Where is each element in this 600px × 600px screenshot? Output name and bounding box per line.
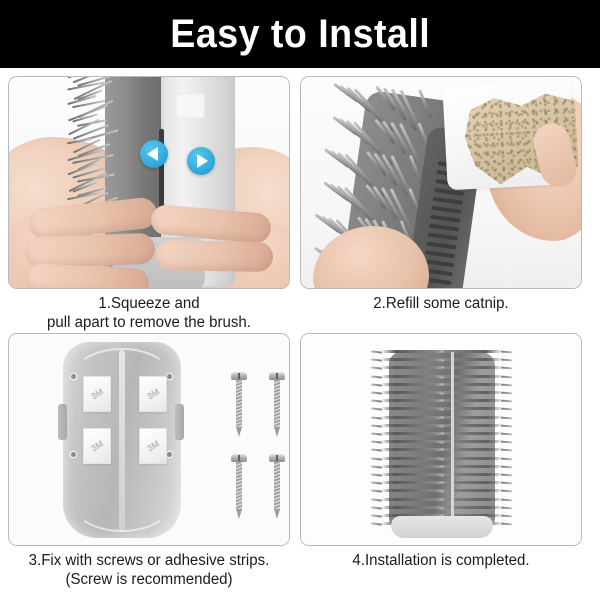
bristle-tip <box>371 490 382 493</box>
screw-hole <box>71 374 76 379</box>
bristle-tip <box>433 481 444 485</box>
bristle-tip <box>433 367 444 371</box>
screw-shaft <box>274 462 280 510</box>
screw-head <box>269 372 285 380</box>
bristle-tip <box>371 498 382 501</box>
step-2-caption: 2.Refill some catnip. <box>304 295 578 314</box>
bristle-tip <box>433 440 444 444</box>
bristle-tip <box>433 416 444 420</box>
screw <box>269 454 285 520</box>
screw-head <box>231 372 247 380</box>
scene-assembled-product <box>301 334 581 545</box>
step-1-photo <box>8 76 290 289</box>
bristle-tip <box>371 432 382 435</box>
adhesive-brand-label: 3M <box>89 438 105 453</box>
screw <box>269 372 285 438</box>
bristle <box>418 89 432 118</box>
bristle-tip <box>433 449 444 453</box>
screw-tip <box>274 427 280 437</box>
step-4-photo <box>300 333 582 546</box>
adhesive-strip: 3M <box>139 376 167 412</box>
bristle-tip <box>433 490 444 494</box>
scene-mounting-hardware: 3M 3M 3M 3M <box>9 334 289 545</box>
bristle-tip <box>501 498 512 501</box>
screw-tip <box>274 509 280 519</box>
vent-slot <box>429 224 459 232</box>
bristle-tip <box>501 523 512 526</box>
step-2-photo <box>300 76 582 289</box>
bristle-tip <box>501 506 512 509</box>
arrow-left-icon <box>140 140 168 168</box>
bristle-tip <box>501 375 512 378</box>
bristle-tip <box>501 441 512 444</box>
screw <box>231 372 247 438</box>
screw <box>231 454 247 520</box>
scene-refill-catnip <box>301 77 581 288</box>
screw-hole <box>167 374 172 379</box>
step-2: 2.Refill some catnip. <box>300 76 590 314</box>
bracket-left-tab <box>58 404 67 440</box>
vent-slot <box>425 250 455 258</box>
adhesive-strip: 3M <box>83 428 111 464</box>
bristle-tip <box>501 490 512 493</box>
bristle-tip <box>501 400 512 403</box>
bracket-bottom-arc <box>73 476 171 532</box>
bristle-tip <box>371 441 382 444</box>
bristle-tip <box>501 449 512 452</box>
bristle-tip <box>371 367 382 370</box>
step-3-caption-line-2: (Screw is recommended) <box>12 571 286 590</box>
bristle-tip <box>501 474 512 477</box>
bristle-tip <box>371 359 382 362</box>
screw-head <box>231 454 247 462</box>
vent-slot <box>426 241 456 249</box>
adhesive-brand-label: 3M <box>89 386 105 401</box>
left-little-finger <box>30 288 143 289</box>
bristle-tip <box>371 473 382 476</box>
vent-slot <box>424 259 454 267</box>
bristle-tip <box>371 400 382 403</box>
bristle-tip <box>501 465 512 468</box>
bristle-tip <box>501 408 512 411</box>
vent-slot <box>428 232 458 240</box>
step-1-caption-line-1: 1.Squeeze and <box>12 295 286 314</box>
bristle-tip <box>433 358 444 362</box>
bristle-tip <box>371 408 382 411</box>
step-4-caption: 4.Installation is completed. <box>304 552 578 571</box>
bristle-tip <box>501 359 512 362</box>
screw-tip <box>236 509 242 519</box>
header-banner: Easy to Install <box>0 0 600 68</box>
bristle-tip <box>371 383 382 386</box>
step-4: 4.Installation is completed. <box>300 333 590 571</box>
bristle-tip <box>371 424 382 427</box>
bristle-tip <box>433 408 444 412</box>
bristle-tip <box>433 350 444 354</box>
bristle-tip <box>433 457 444 461</box>
bristle-tip <box>371 375 382 378</box>
screw-shaft <box>236 462 242 510</box>
adhesive-brand-label: 3M <box>145 438 161 453</box>
step-1-caption: 1.Squeeze and pull apart to remove the b… <box>12 295 286 333</box>
step-3-photo: 3M 3M 3M 3M <box>8 333 290 546</box>
bristle-tip <box>501 482 512 485</box>
adhesive-strip: 3M <box>139 428 167 464</box>
screw-hole <box>167 452 172 457</box>
bristle-tip <box>433 498 444 502</box>
bristle-tip <box>433 424 444 428</box>
bristle-tip <box>433 506 444 510</box>
screw-tip <box>236 427 242 437</box>
bristle-tip <box>371 449 382 452</box>
shell-label-slot <box>175 93 205 119</box>
step-1: 1.Squeeze and pull apart to remove the b… <box>8 76 298 333</box>
bristle-tip <box>371 514 382 517</box>
product-instruction-graphic: Easy to Install <box>0 0 600 600</box>
steps-grid: 1.Squeeze and pull apart to remove the b… <box>0 68 600 600</box>
scene-squeeze-brush <box>9 77 289 288</box>
step-1-caption-line-2: pull apart to remove the brush. <box>12 314 286 333</box>
vent-slot <box>430 215 460 223</box>
arrow-left-glyph <box>147 147 158 161</box>
bristle-tip <box>371 457 382 460</box>
bristle-tip <box>501 457 512 460</box>
step-2-caption-line-1: 2.Refill some catnip. <box>304 295 578 314</box>
bristle-tip <box>433 465 444 469</box>
bristle-tip <box>501 367 512 370</box>
screw-hole <box>71 452 76 457</box>
bristle-tip <box>371 465 382 468</box>
bristle-tip <box>501 433 512 436</box>
adhesive-brand-label: 3M <box>145 386 161 401</box>
step-3-caption-line-1: 3.Fix with screws or adhesive strips. <box>12 552 286 571</box>
bristle-tip <box>501 392 512 395</box>
vent-slot <box>433 197 463 205</box>
screw-shaft <box>274 380 280 428</box>
bracket-right-tab <box>175 404 184 440</box>
bristle-tip <box>433 375 444 379</box>
bristle-tip <box>501 424 512 427</box>
bristle-tip <box>433 391 444 395</box>
page-title: Easy to Install <box>170 14 430 54</box>
bristle-tip <box>371 523 382 526</box>
arrow-right-glyph <box>197 154 208 168</box>
bristle-tip <box>433 473 444 477</box>
bristle-tip <box>501 351 512 354</box>
bristle-tip <box>371 506 382 509</box>
bristle-tip <box>501 416 512 419</box>
arrow-right-icon <box>187 147 215 175</box>
bristle-tip <box>371 350 382 353</box>
right-middle-finger <box>155 240 274 272</box>
step-3-caption: 3.Fix with screws or adhesive strips. (S… <box>12 552 286 590</box>
step-3: 3M 3M 3M 3M <box>8 333 298 590</box>
bristle-tip <box>501 383 512 386</box>
bristle-tip <box>501 515 512 518</box>
bristle-tip <box>371 482 382 485</box>
adhesive-strip: 3M <box>83 376 111 412</box>
bristle-tip <box>371 391 382 394</box>
groomer-base <box>391 516 493 538</box>
screw-head <box>269 454 285 462</box>
bristle-tip <box>433 399 444 403</box>
bristle-tip <box>433 383 444 387</box>
vent-slot <box>431 206 461 214</box>
groomer-bristle-tips <box>373 348 513 534</box>
step-4-caption-line-1: 4.Installation is completed. <box>304 552 578 571</box>
screw-shaft <box>236 380 242 428</box>
bristle-tip <box>371 416 382 419</box>
bristle-tip <box>433 432 444 436</box>
